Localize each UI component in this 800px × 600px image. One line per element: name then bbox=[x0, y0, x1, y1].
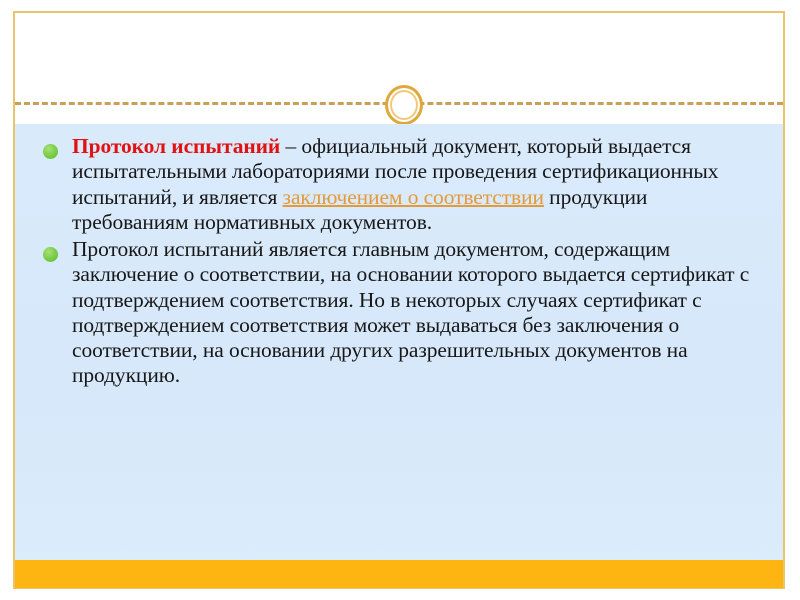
slide-root: Протокол испытаний – официальный докумен… bbox=[0, 0, 800, 600]
bullet-list: Протокол испытаний – официальный докумен… bbox=[37, 134, 761, 389]
bullet-dot-icon bbox=[43, 247, 58, 262]
list-item: Протокол испытаний является главным доку… bbox=[37, 237, 761, 389]
definition-term: Протокол испытаний bbox=[72, 134, 280, 158]
list-item: Протокол испытаний – официальный докумен… bbox=[37, 134, 761, 235]
footer-accent-bar bbox=[15, 560, 783, 588]
bullet-dot-icon bbox=[43, 144, 58, 159]
content-panel: Протокол испытаний – официальный докумен… bbox=[15, 124, 783, 560]
paragraph-text: Протокол испытаний является главным доку… bbox=[72, 237, 749, 387]
decorative-ring-icon bbox=[385, 85, 423, 125]
conformity-conclusion-link[interactable]: заключением о соответствии bbox=[283, 185, 544, 209]
